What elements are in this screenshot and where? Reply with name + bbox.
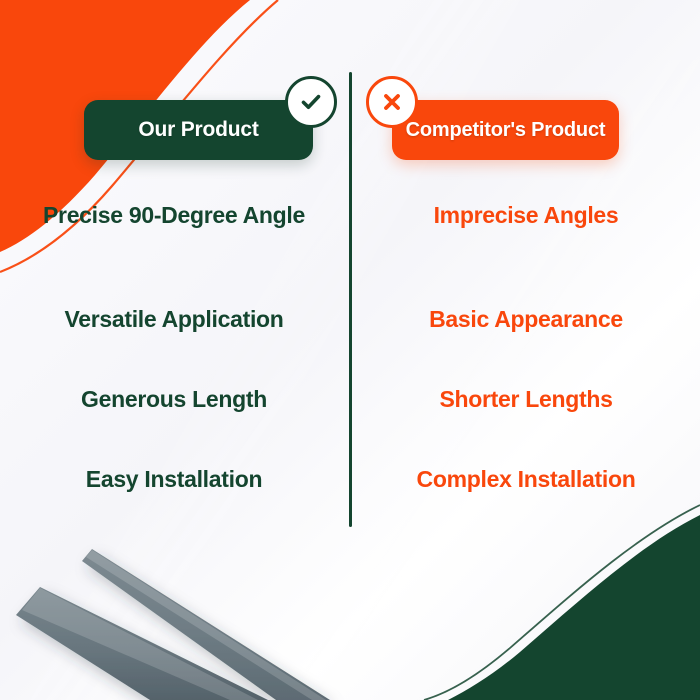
x-mark-icon	[380, 90, 404, 114]
check-mark-icon	[298, 89, 324, 115]
check-circle-icon	[285, 76, 337, 128]
x-circle-icon	[366, 76, 418, 128]
list-item: Complex Installation	[356, 464, 696, 495]
angle-bar-lower	[16, 587, 268, 700]
angle-bar-highlight	[22, 550, 326, 700]
list-item: Precise 90-Degree Angle	[4, 200, 344, 231]
competitor-product-title: Competitor's Product	[406, 119, 606, 142]
competitor-product-title-pill[interactable]: Competitor's Product	[392, 100, 619, 160]
comparison-infographic: Our Product Precise 90-Degree Angle Vers…	[0, 0, 700, 700]
green-wave-corner	[424, 505, 700, 700]
angle-bar-upper	[82, 549, 330, 700]
list-item: Shorter Lengths	[356, 384, 696, 415]
column-our-product: Our Product Precise 90-Degree Angle Vers…	[4, 100, 344, 162]
column-divider	[349, 72, 352, 527]
our-product-title-pill[interactable]: Our Product	[84, 100, 313, 160]
list-item: Generous Length	[4, 384, 344, 415]
list-item: Easy Installation	[4, 464, 344, 495]
list-item: Basic Appearance	[356, 304, 696, 335]
list-item: Versatile Application	[4, 304, 344, 335]
our-product-header: Our Product	[4, 100, 344, 162]
list-item: Imprecise Angles	[356, 200, 696, 231]
competitor-product-header: Competitor's Product	[356, 100, 696, 162]
our-product-title: Our Product	[138, 118, 258, 142]
column-competitor-product: Competitor's Product Imprecise Angles Ba…	[356, 100, 696, 162]
